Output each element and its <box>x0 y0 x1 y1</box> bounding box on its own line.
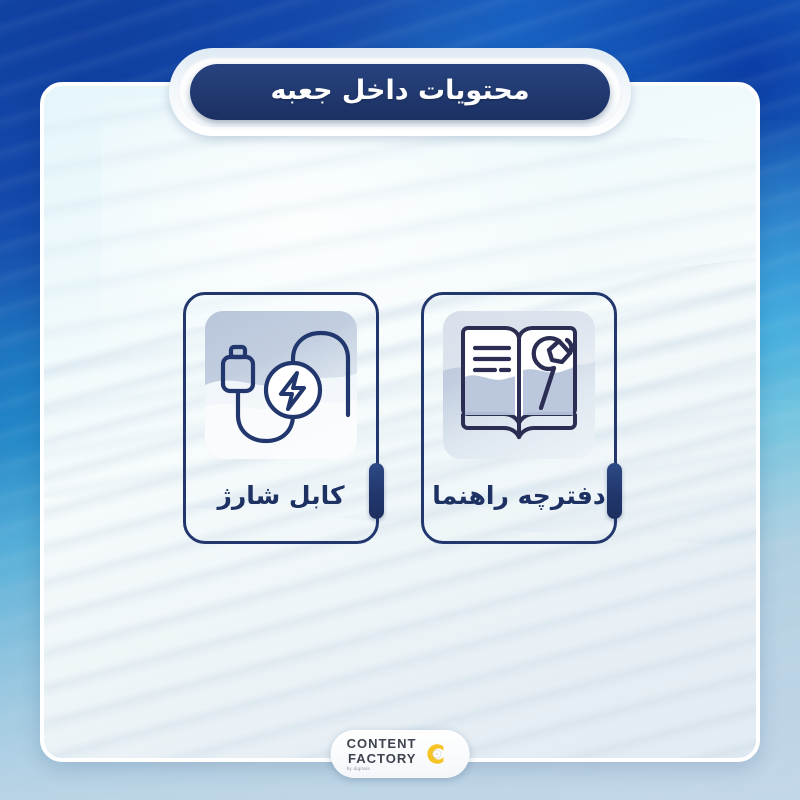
card-manual-booklet[interactable]: دفترچه راهنما <box>421 292 617 544</box>
title-banner: محتویات داخل جعبه <box>169 48 631 136</box>
logo-line-content: CONTENT <box>347 737 417 750</box>
card-charging-cable[interactable]: کابل شارژ <box>183 292 379 544</box>
card-label-manual-booklet: دفترچه راهنما <box>432 481 606 511</box>
c-logo-icon <box>423 741 449 767</box>
card-row: کابل شارژ <box>0 292 800 544</box>
title-inner-ring: محتویات داخل جعبه <box>178 57 622 127</box>
manual-book-wrench-icon <box>443 311 595 459</box>
page-title: محتویات داخل جعبه <box>224 75 576 106</box>
charging-cable-icon <box>205 311 357 459</box>
charging-cable-icon-box <box>205 311 357 459</box>
manual-book-icon-box <box>443 311 595 459</box>
title-outer-ring: محتویات داخل جعبه <box>169 48 631 136</box>
card-accent-tab[interactable] <box>607 463 622 519</box>
logo-subtext: by digitals <box>347 767 370 772</box>
card-accent-tab[interactable] <box>369 463 384 519</box>
brand-logo[interactable]: CONTENT FACTORY by digitals <box>331 730 470 779</box>
card-label-charging-cable: کابل شارژ <box>217 481 344 511</box>
poster-canvas: محتویات داخل جعبه <box>0 0 800 800</box>
logo-wordmark: CONTENT FACTORY by digitals <box>347 737 417 772</box>
title-pill: محتویات داخل جعبه <box>190 64 610 120</box>
logo-line-factory: FACTORY <box>348 752 416 765</box>
